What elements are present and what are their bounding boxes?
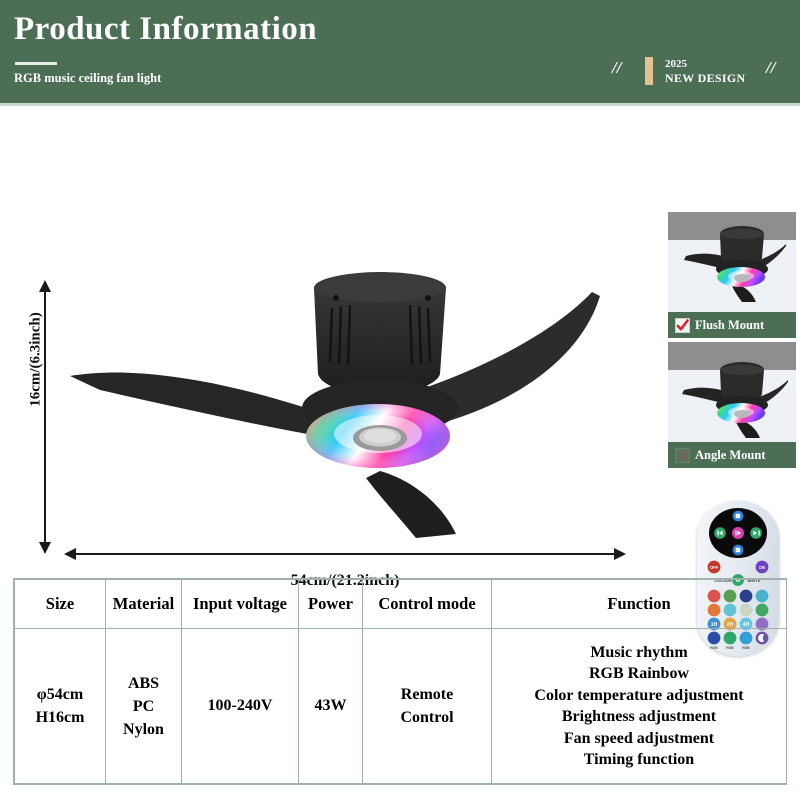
cell-control-mode: Remote Control <box>363 629 492 784</box>
svg-text:ON: ON <box>759 565 765 570</box>
table-header-row: Size Material Input voltage Power Contro… <box>15 580 787 629</box>
control-mode-line-1: Remote <box>366 683 488 706</box>
slash-left-decoration: // <box>612 58 621 78</box>
thumbnail-angle-mount[interactable]: Angle Mount <box>668 342 796 468</box>
material-line-1: ABS <box>109 672 178 695</box>
cross-icon <box>675 448 690 463</box>
flush-mount-text: Flush Mount <box>695 318 764 333</box>
cell-size: φ54cm H16cm <box>15 629 106 784</box>
height-dimension-label: 16cm/(6.3inch) <box>28 280 45 440</box>
material-line-2: PC <box>109 695 178 718</box>
angle-mount-image <box>668 342 796 442</box>
ceiling-fan-image <box>60 266 620 541</box>
cell-input-voltage: 100-240V <box>182 629 299 784</box>
slash-right-decoration: // <box>766 58 775 78</box>
thumbnail-flush-mount[interactable]: Flush Mount <box>668 212 796 338</box>
function-line-4: Brightness adjustment <box>495 706 783 728</box>
subtitle-divider <box>15 62 57 65</box>
angle-mount-label-bar: Angle Mount <box>668 442 796 468</box>
control-mode-line-2: Control <box>366 706 488 729</box>
page-title: Product Information <box>14 11 317 48</box>
page-subtitle: RGB music ceiling fan light <box>14 71 161 86</box>
svg-text:OFF: OFF <box>710 565 719 570</box>
size-line-1: φ54cm <box>18 683 102 706</box>
year-label: 2025 <box>665 57 745 71</box>
width-dimension-arrow <box>75 553 615 555</box>
size-line-2: H16cm <box>18 706 102 729</box>
new-design-label: NEW DESIGN <box>665 71 745 85</box>
function-line-6: Timing function <box>495 749 783 771</box>
column-header-control-mode: Control mode <box>363 580 492 629</box>
specification-table: Size Material Input voltage Power Contro… <box>13 578 787 785</box>
material-line-3: Nylon <box>109 718 178 741</box>
flush-mount-label-bar: Flush Mount <box>668 312 796 338</box>
column-header-input-voltage: Input voltage <box>182 580 299 629</box>
accent-bar <box>645 57 653 85</box>
column-header-material: Material <box>106 580 182 629</box>
year-badge: 2025 NEW DESIGN <box>665 57 745 85</box>
function-line-5: Fan speed adjustment <box>495 728 783 750</box>
angle-mount-text: Angle Mount <box>695 448 766 463</box>
check-icon <box>675 318 690 333</box>
column-header-function: Function <box>492 580 787 629</box>
table-row: φ54cm H16cm ABS PC Nylon 100-240V 43W Re… <box>15 629 787 784</box>
column-header-size: Size <box>15 580 106 629</box>
cell-power: 43W <box>299 629 363 784</box>
flush-mount-image <box>668 212 796 312</box>
cell-function: Music rhythm RGB Rainbow Color temperatu… <box>492 629 787 784</box>
cell-material: ABS PC Nylon <box>106 629 182 784</box>
function-line-1: Music rhythm <box>495 642 783 664</box>
function-line-3: Color temperature adjustment <box>495 685 783 707</box>
column-header-power: Power <box>299 580 363 629</box>
product-stage: 16cm/(6.3inch) 54cm/(21.2inch) <box>0 106 800 566</box>
function-line-2: RGB Rainbow <box>495 663 783 685</box>
